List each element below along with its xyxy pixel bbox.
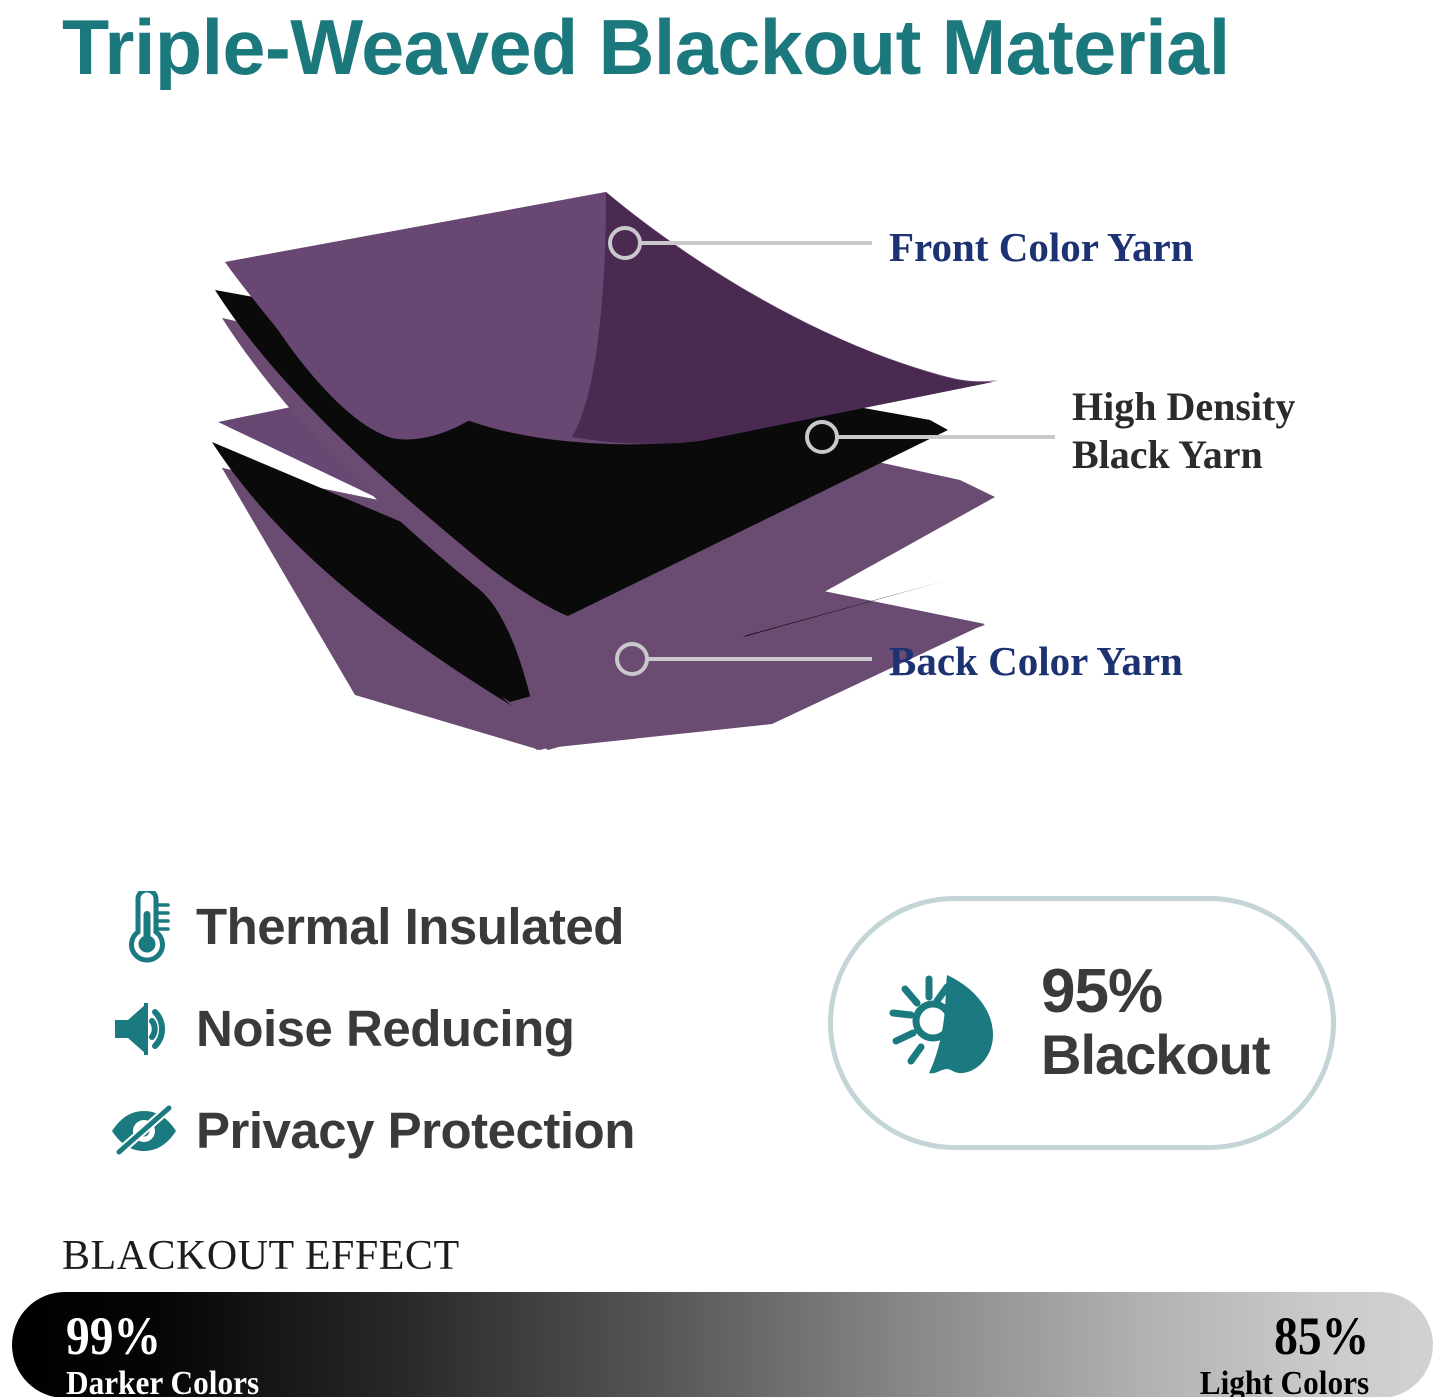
- feature-label-privacy: Privacy Protection: [196, 1101, 635, 1161]
- blackout-effect-left: 99% Darker Colors: [66, 1308, 276, 1397]
- feature-row-noise: Noise Reducing: [106, 986, 746, 1072]
- callout-label-black-line2: Black Yarn: [1072, 432, 1263, 477]
- page-title: Triple-Weaved Blackout Material: [62, 4, 1389, 90]
- feature-list: Thermal Insulated Noise Reducing: [106, 884, 746, 1190]
- blackout-effect-heading: BLACKOUT EFFECT: [62, 1232, 460, 1280]
- speaker-volume-icon: [106, 991, 182, 1067]
- callout-label-black-line1: High Density: [1072, 384, 1295, 429]
- darker-colors-percent: 99%: [66, 1308, 251, 1364]
- infographic-page: Triple-Weaved Blackout Material: [0, 0, 1445, 1397]
- light-colors-label: Light Colors: [1200, 1364, 1369, 1397]
- blackout-effect-right: 85% Light Colors: [1185, 1308, 1369, 1397]
- feature-row-thermal: Thermal Insulated: [106, 884, 746, 970]
- blackout-effect-gradient-bar: 99% Darker Colors 85% Light Colors: [12, 1292, 1433, 1397]
- eye-slash-icon: [106, 1093, 182, 1169]
- thermometer-icon: [106, 889, 182, 965]
- feature-label-noise: Noise Reducing: [196, 999, 574, 1059]
- sun-blocked-icon: [875, 955, 1011, 1091]
- callout-label-front: Front Color Yarn: [889, 222, 1193, 272]
- callout-label-black-yarn: High Density Black Yarn: [1072, 383, 1295, 479]
- blackout-percent: 95%: [1041, 960, 1270, 1024]
- feature-row-privacy: Privacy Protection: [106, 1088, 746, 1174]
- darker-colors-label: Darker Colors: [66, 1364, 259, 1397]
- blackout-badge-text: 95% Blackout: [1041, 960, 1270, 1086]
- light-colors-percent: 85%: [1207, 1308, 1369, 1364]
- callout-label-back: Back Color Yarn: [889, 636, 1183, 686]
- blackout-badge: 95% Blackout: [828, 896, 1336, 1150]
- feature-label-thermal: Thermal Insulated: [196, 897, 624, 957]
- blackout-word: Blackout: [1041, 1024, 1270, 1086]
